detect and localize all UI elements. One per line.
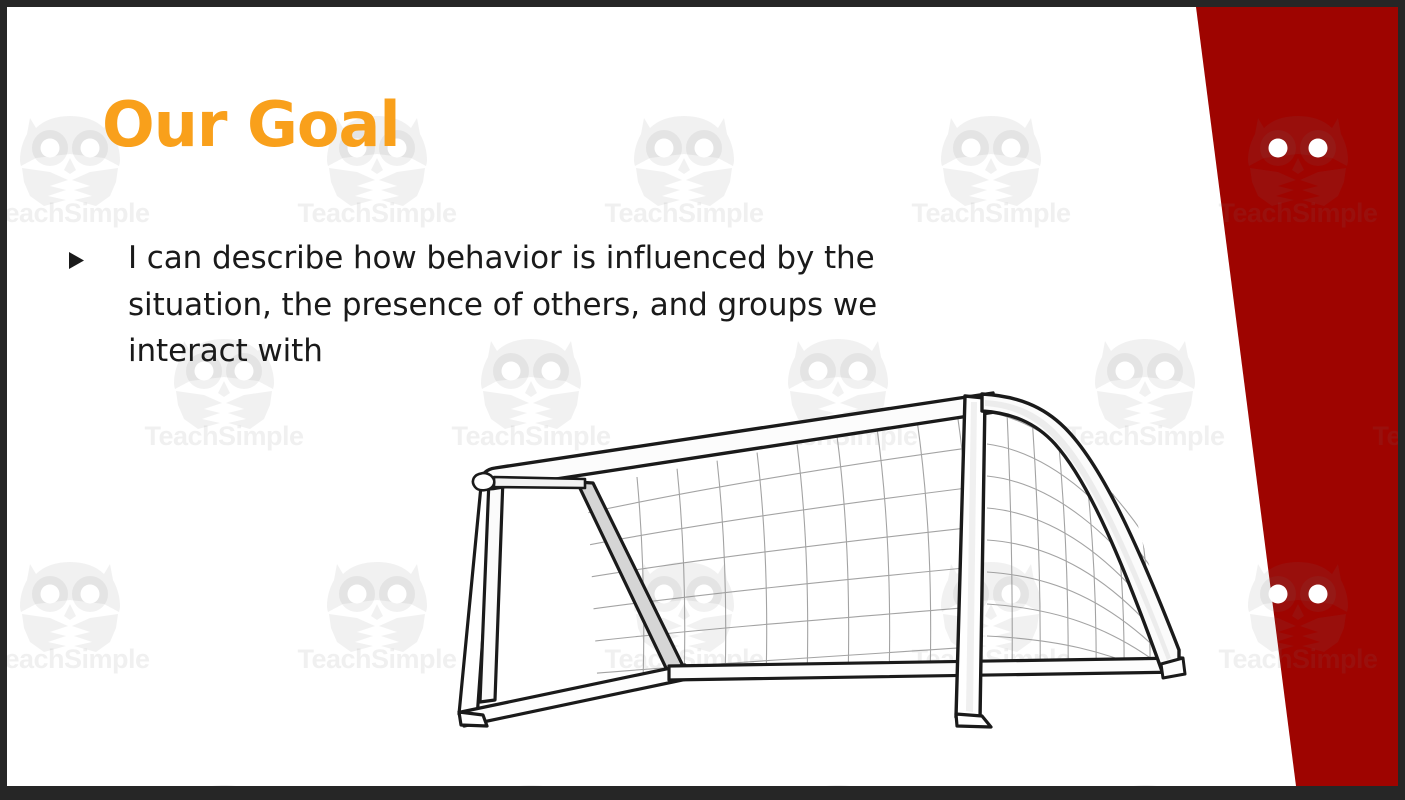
- watermark-text: TeachSimple: [297, 644, 456, 675]
- watermark-text: TeachSimple: [604, 198, 763, 229]
- watermark-text: TeachSimple: [7, 644, 150, 675]
- watermark-tile: TeachSimple: [421, 7, 641, 37]
- watermark-tile: TeachSimple: [7, 779, 27, 786]
- triangle-bullet-icon: [69, 252, 84, 274]
- watermark-tile: TeachSimple: [421, 779, 641, 786]
- bullet-item-text: I can describe how behavior is influence…: [128, 235, 889, 375]
- owl-logo-icon: [471, 779, 591, 786]
- watermark-tile: TeachSimple: [7, 333, 27, 483]
- owl-logo-icon: [1085, 779, 1205, 786]
- watermark-tile: TeachSimple: [114, 779, 334, 786]
- watermark-tile: TeachSimple: [114, 7, 334, 37]
- watermark-tile: TeachSimple: [728, 7, 948, 37]
- owl-logo-icon: [10, 556, 130, 656]
- page-title: Our Goal: [102, 88, 400, 161]
- soccer-goal-illustration: [437, 382, 1207, 747]
- owl-logo-icon: [317, 556, 437, 656]
- watermark-text: TeachSimple: [144, 421, 303, 452]
- owl-logo-icon: [164, 779, 284, 786]
- slide-canvas: Our Goal I can describe how behavior is …: [7, 7, 1398, 786]
- watermark-text: TeachSimple: [297, 198, 456, 229]
- watermark-text: TeachSimple: [7, 198, 150, 229]
- bullet-list: I can describe how behavior is influence…: [69, 235, 889, 375]
- owl-logo-icon: [624, 110, 744, 210]
- watermark-tile: TeachSimple: [728, 779, 948, 786]
- watermark-tile: TeachSimple: [1035, 779, 1255, 786]
- owl-logo-icon: [931, 110, 1051, 210]
- watermark-tile: TeachSimple: [7, 556, 180, 706]
- watermark-tile: TeachSimple: [881, 110, 1101, 260]
- slide-frame: Our Goal I can describe how behavior is …: [0, 0, 1405, 800]
- owl-logo-icon: [778, 779, 898, 786]
- watermark-text: TeachSimple: [911, 198, 1070, 229]
- watermark-tile: TeachSimple: [7, 7, 27, 37]
